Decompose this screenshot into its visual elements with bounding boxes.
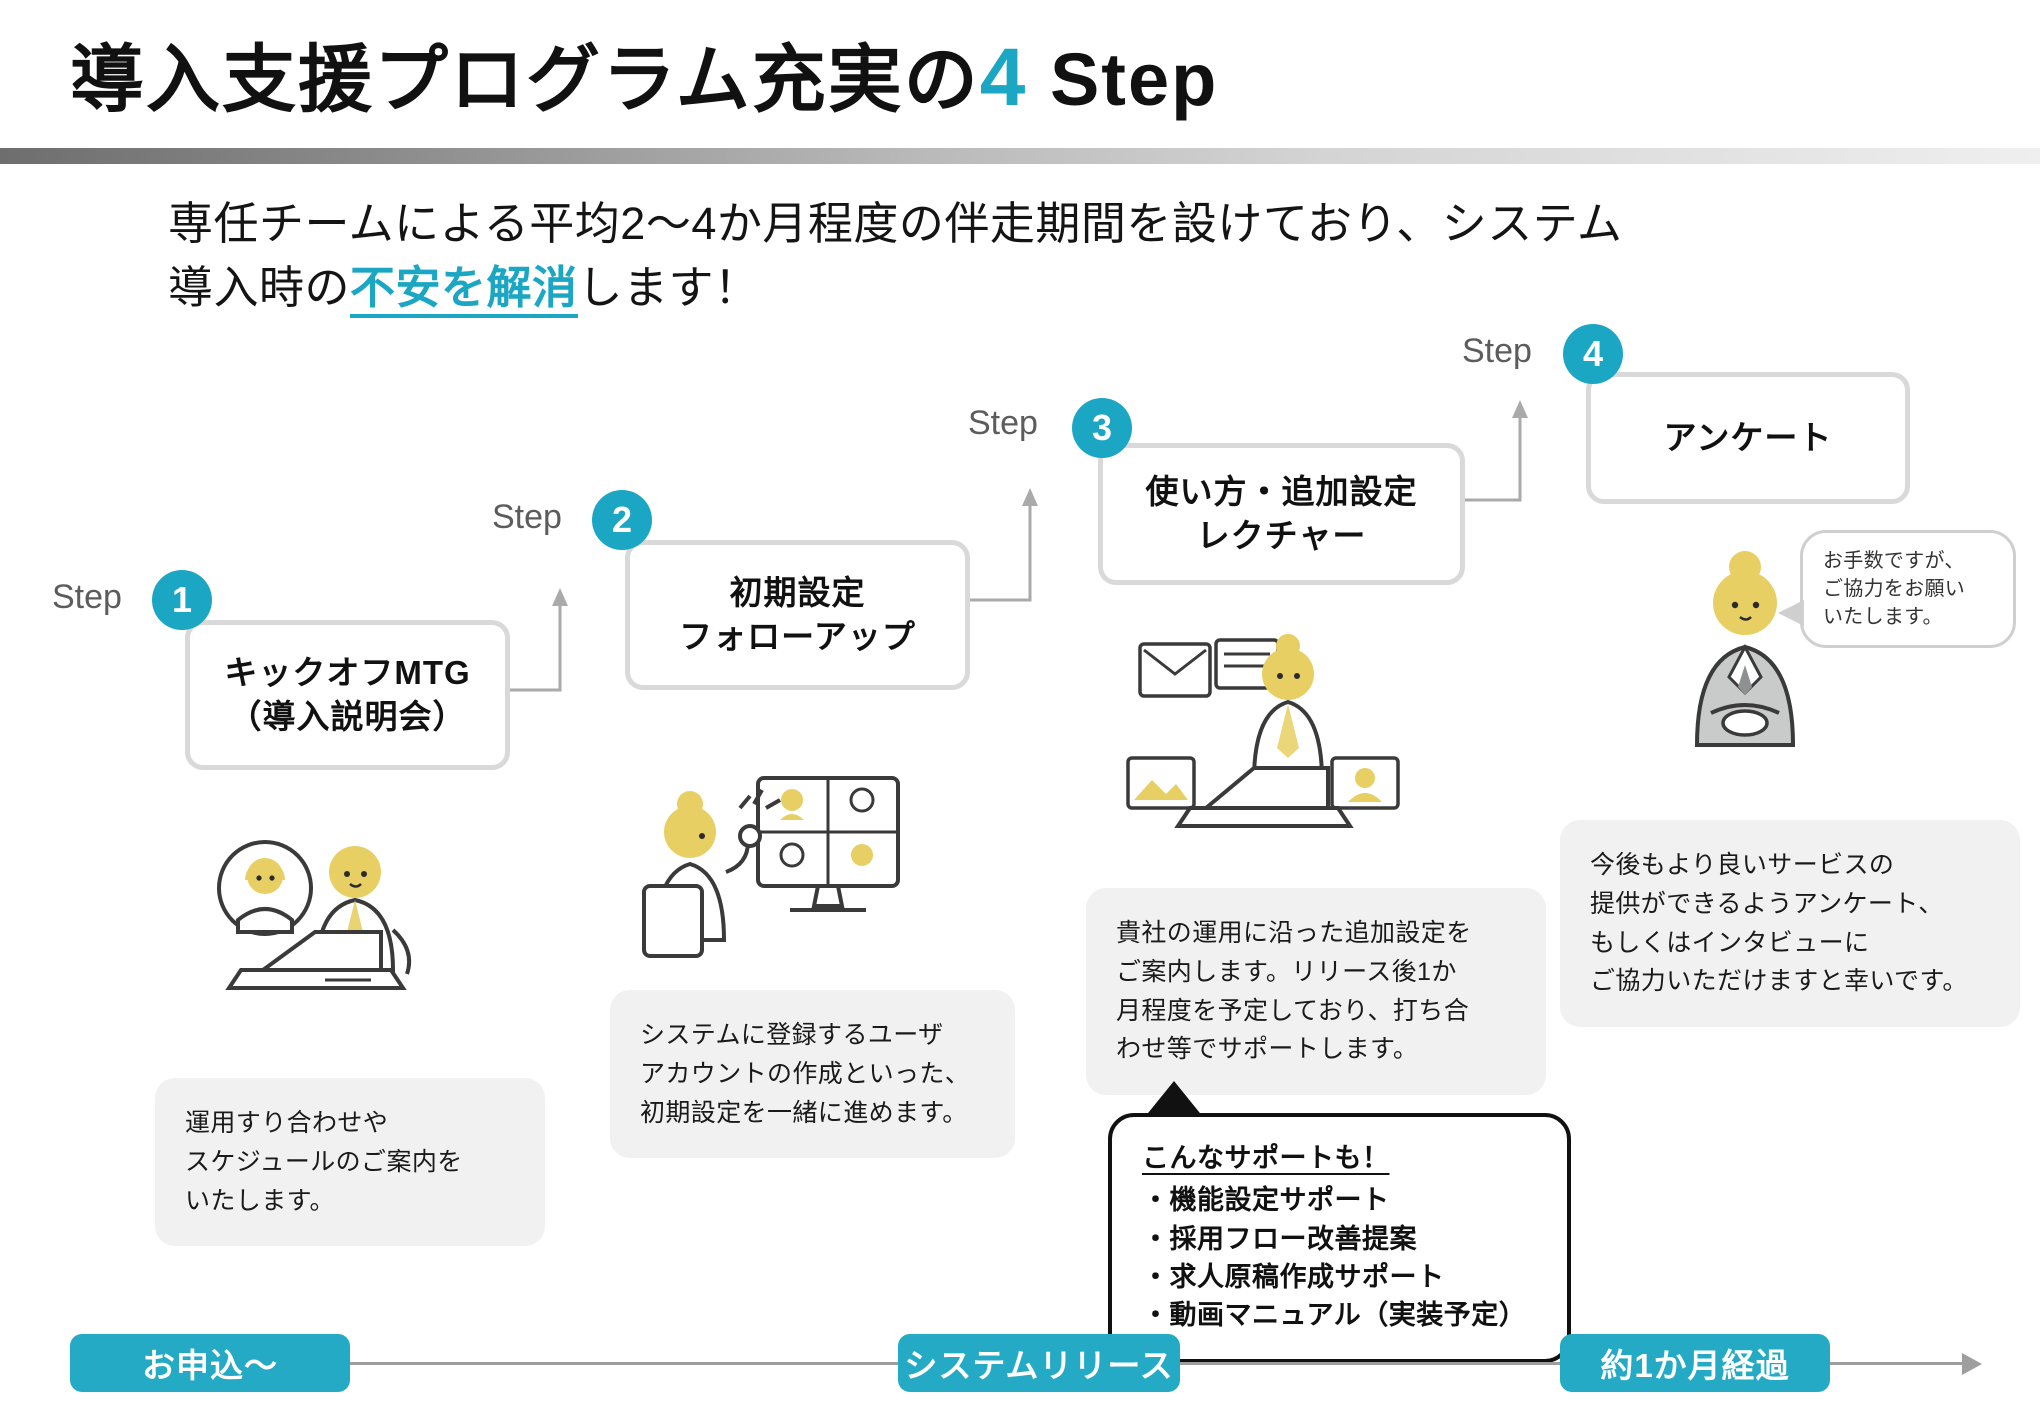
step-1-badge: 1 xyxy=(152,570,212,630)
step-2-box-line-1: 初期設定 xyxy=(679,571,916,615)
step-3-box-line-1: 使い方・追加設定 xyxy=(1146,470,1418,514)
subtitle-line2-post: します！ xyxy=(578,262,760,313)
step-4-box[interactable]: アンケート xyxy=(1586,372,1910,504)
step-3-box-line-2: レクチャー xyxy=(1146,514,1418,558)
note-step-3: 貴社の運用に沿った追加設定を ご案内します。リリース後1か 月程度を予定しており… xyxy=(1086,888,1546,1095)
title-lead: 導入支援プログラム充実の xyxy=(70,38,980,121)
illustration-kickoff-meeting xyxy=(205,820,465,1040)
speech-bubble-survey: お手数ですが、 ご協力をお願い いたします。 xyxy=(1800,530,2016,648)
step-1-box-line-1: キックオフMTG xyxy=(224,651,470,695)
step-3-box[interactable]: 使い方・追加設定 レクチャー xyxy=(1098,443,1465,585)
subtitle-line-1: 専任チームによる平均2～4か月程度の伴走期間を設けており、システム xyxy=(168,192,1622,256)
step-2-label: Step xyxy=(492,498,562,537)
step-2-box[interactable]: 初期設定 フォローアップ xyxy=(625,540,970,690)
step-1-box[interactable]: キックオフMTG （導入説明会） xyxy=(185,620,510,770)
illustration-lecture-support xyxy=(1120,630,1420,870)
title-suffix: Step xyxy=(1050,38,1218,121)
support-item: ・動画マニュアル（実装予定） xyxy=(1142,1296,1537,1334)
timeline-pill-one-month[interactable]: 約1か月経過 xyxy=(1560,1334,1830,1392)
step-3-badge: 3 xyxy=(1072,398,1132,458)
step-4-label: Step xyxy=(1462,332,1532,371)
support-item: ・求人原稿作成サポート xyxy=(1142,1258,1537,1296)
step-4-badge: 4 xyxy=(1563,324,1623,384)
subtitle-highlight: 不安を解消 xyxy=(350,262,578,318)
speech-bubble-tail xyxy=(1778,600,1804,626)
title-number: 4 xyxy=(980,32,1028,123)
support-item: ・機能設定サポート xyxy=(1142,1181,1537,1219)
subtitle-line2-pre: 導入時の xyxy=(168,262,350,313)
page-title: 導入支援プログラム充実の4 Step xyxy=(70,20,1218,127)
step-4-box-line-1: アンケート xyxy=(1664,416,1833,460)
note-step-4: 今後もより良いサービスの 提供ができるようアンケート、 もしくはインタビューに … xyxy=(1560,820,2020,1027)
timeline-arrow-icon xyxy=(1962,1353,1982,1375)
support-box: こんなサポートも！ ・機能設定サポート ・採用フロー改善提案 ・求人原稿作成サポ… xyxy=(1108,1113,1571,1363)
step-3-label: Step xyxy=(968,404,1038,443)
support-item: ・採用フロー改善提案 xyxy=(1142,1220,1537,1258)
subtitle-line-2: 導入時の不安を解消します！ xyxy=(168,256,1622,320)
timeline-pill-application[interactable]: お申込～ xyxy=(70,1334,350,1392)
illustration-online-meeting xyxy=(630,760,910,980)
timeline-pill-release[interactable]: システムリリース xyxy=(898,1334,1180,1392)
support-item-list: ・機能設定サポート ・採用フロー改善提案 ・求人原稿作成サポート ・動画マニュア… xyxy=(1142,1181,1537,1334)
title-divider xyxy=(0,148,2040,164)
support-box-heading: こんなサポートも！ xyxy=(1142,1139,1537,1177)
note-step-1: 運用すり合わせや スケジュールのご案内を いたします。 xyxy=(155,1078,545,1246)
step-2-badge: 2 xyxy=(592,490,652,550)
note-step-2: システムに登録するユーザ アカウントの作成といった、 初期設定を一緒に進めます。 xyxy=(610,990,1015,1158)
slide-root: 導入支援プログラム充実の4 Step 専任チームによる平均2～4か月程度の伴走期… xyxy=(0,0,2040,1416)
subtitle: 専任チームによる平均2～4か月程度の伴走期間を設けており、システム 導入時の不安… xyxy=(168,192,1622,320)
step-2-box-line-2: フォローアップ xyxy=(679,615,916,659)
step-1-label: Step xyxy=(52,578,122,617)
step-1-box-line-2: （導入説明会） xyxy=(224,695,470,739)
